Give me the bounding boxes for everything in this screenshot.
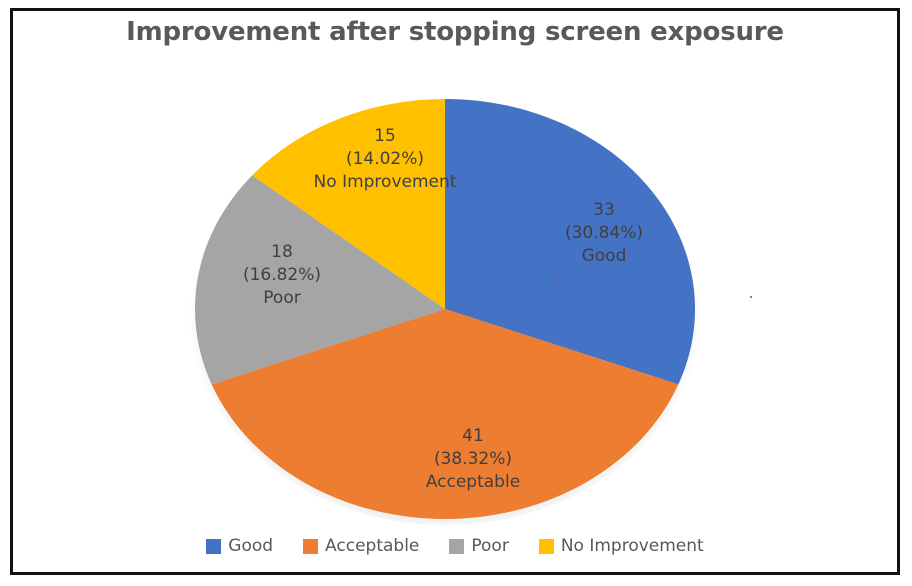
legend-item-no-improvement[interactable]: No Improvement bbox=[539, 536, 704, 556]
artifact-speck bbox=[556, 281, 558, 283]
legend-label: Good bbox=[228, 536, 273, 556]
legend-swatch-icon bbox=[206, 539, 221, 554]
legend-swatch-icon bbox=[449, 539, 464, 554]
pie-chart bbox=[193, 81, 703, 511]
legend-label: Acceptable bbox=[325, 536, 419, 556]
artifact-speck bbox=[750, 296, 752, 298]
legend-item-good[interactable]: Good bbox=[206, 536, 273, 556]
legend-swatch-icon bbox=[303, 539, 318, 554]
plot-area: 33 (30.84%) Good 41 (38.32%) Acceptable … bbox=[13, 11, 903, 578]
pie-slice-group bbox=[195, 99, 695, 519]
chart-legend: GoodAcceptablePoorNo Improvement bbox=[13, 536, 897, 556]
legend-item-poor[interactable]: Poor bbox=[449, 536, 508, 556]
legend-label: Poor bbox=[471, 536, 508, 556]
legend-item-acceptable[interactable]: Acceptable bbox=[303, 536, 419, 556]
legend-label: No Improvement bbox=[561, 536, 704, 556]
legend-swatch-icon bbox=[539, 539, 554, 554]
chart-container: Improvement after stopping screen exposu… bbox=[10, 8, 900, 575]
